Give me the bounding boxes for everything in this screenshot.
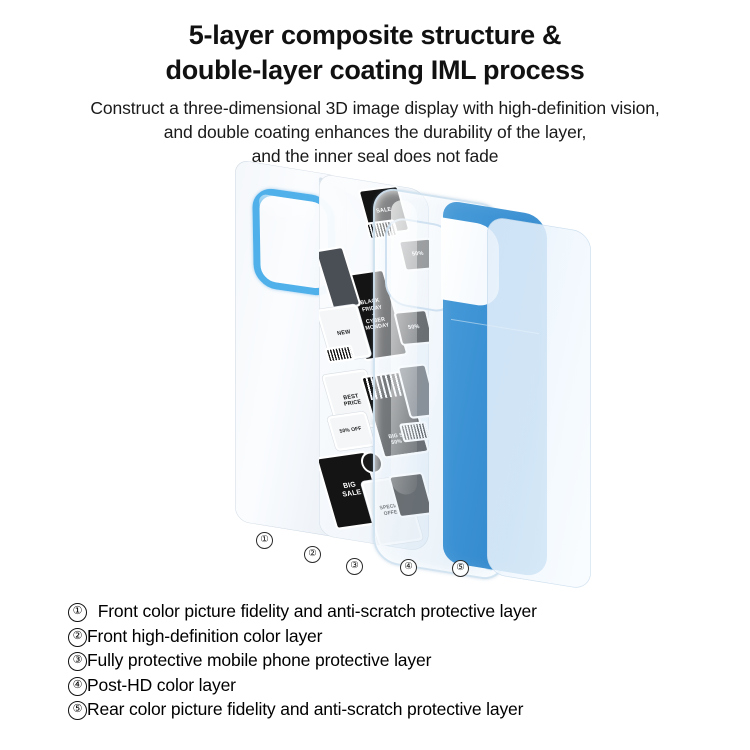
diagram-marker-4: ④ (400, 559, 417, 576)
legend-label-4: Post-HD color layer (87, 674, 236, 696)
header-block: 5-layer composite structure & double-lay… (0, 18, 750, 169)
legend-number-1: ① (68, 603, 87, 622)
legend-number-2: ② (68, 628, 87, 647)
layer-legend-list: ① Front color picture fidelity and anti-… (68, 600, 708, 723)
subtitle-line-2: and double coating enhances the durabili… (0, 120, 750, 144)
diagram-stage: SALE 50% BLACK FRIDAY + CYBER MONDAY NEW… (215, 150, 555, 590)
page-title-line-2: double-layer coating IML process (0, 53, 750, 88)
legend-label-2: Front high-definition color layer (87, 625, 322, 647)
legend-item-2: ② Front high-definition color layer (68, 625, 708, 650)
legend-item-1: ① Front color picture fidelity and anti-… (68, 600, 708, 625)
legend-item-3: ③ Fully protective mobile phone protecti… (68, 649, 708, 674)
diagram-marker-3: ③ (346, 558, 363, 575)
legend-number-5: ⑤ (68, 701, 87, 720)
legend-number-4: ④ (68, 677, 87, 696)
exploded-layer-diagram: SALE 50% BLACK FRIDAY + CYBER MONDAY NEW… (0, 150, 750, 590)
page-title-line-1: 5-layer composite structure & (0, 18, 750, 53)
legend-item-5: ⑤ Rear color picture fidelity and anti-s… (68, 698, 708, 723)
diagram-marker-5: ⑤ (452, 560, 469, 577)
diagram-marker-2: ② (304, 546, 321, 563)
print-barcode-new (327, 347, 353, 361)
legend-label-3: Fully protective mobile phone protective… (87, 649, 431, 671)
legend-item-4: ④ Post-HD color layer (68, 674, 708, 699)
layer-5-rear-protective-film (487, 216, 591, 591)
legend-label-5: Rear color picture fidelity and anti-scr… (87, 698, 523, 720)
subtitle-line-1: Construct a three-dimensional 3D image d… (0, 96, 750, 120)
legend-label-1: Front color picture fidelity and anti-sc… (93, 600, 537, 622)
diagram-marker-1: ① (256, 532, 273, 549)
legend-number-3: ③ (68, 652, 87, 671)
